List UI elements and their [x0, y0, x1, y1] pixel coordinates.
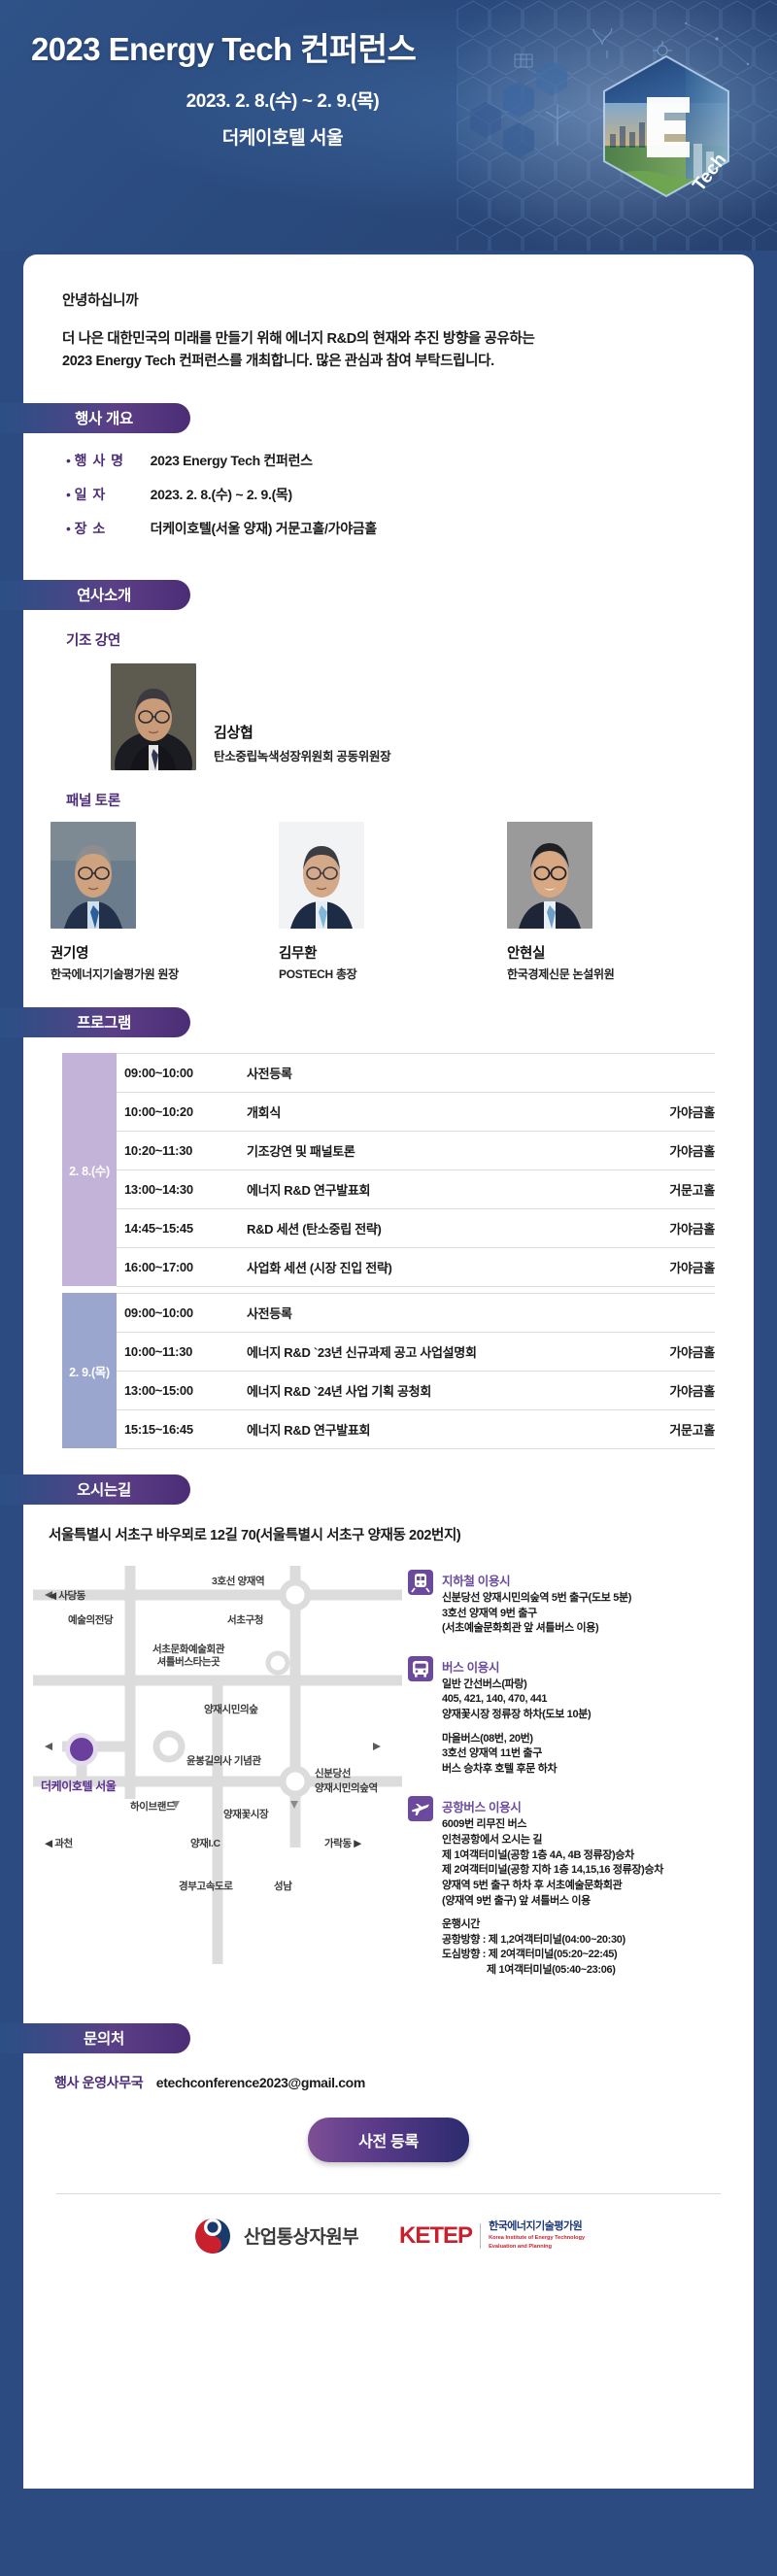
- transit-line: 버스 승차후 호텔 후문 하차: [442, 1762, 591, 1778]
- transit-bus: 버스 이용시 일반 간선버스(파랑) 405, 421, 140, 470, 4…: [408, 1656, 754, 1778]
- panel-subtitle: 패널 토론: [23, 770, 754, 810]
- map-label-yangjae-ic: 양재I.C: [190, 1836, 220, 1850]
- program-hall: [625, 1293, 715, 1332]
- table-row: 2. 9.(목) 09:00~10:00 사전등록: [62, 1293, 715, 1332]
- speaker-title: POSTECH 총장: [279, 966, 507, 982]
- overview-row: • 장 소 더케이호텔(서울 양재) 거문고홀/가야금홀: [66, 519, 754, 538]
- map-label-seocho-office: 서초구청: [227, 1612, 263, 1627]
- speaker-name: 김상협: [214, 722, 390, 742]
- program-title: 사전등록: [231, 1293, 625, 1332]
- intro-line-1: 더 나은 대한민국의 미래를 만들기 위해 에너지 R&D의 현재와 추진 방향…: [62, 328, 715, 351]
- transit-line: 양재역 5번 출구 하차 후 서초예술문화회관: [442, 1879, 663, 1894]
- section-badge-directions: 오시는길: [0, 1474, 190, 1505]
- program-title: 에너지 R&D 연구발표회: [231, 1169, 625, 1208]
- transit-line: 양재꽃시장 정류장 하차(도보 10분): [442, 1708, 591, 1723]
- transit-line: 제 1여객터미널(공항 1층 4A, 4B 정류장)승차: [442, 1848, 663, 1864]
- program-hall: 거문고홀: [625, 1409, 715, 1448]
- program-time: 14:45~15:45: [117, 1208, 231, 1247]
- table-row: 10:00~11:30 에너지 R&D `23년 신규과제 공고 사업설명회 가…: [62, 1332, 715, 1371]
- transit-head: 공항버스 이용시: [442, 1797, 663, 1815]
- pre-register-button[interactable]: 사전 등록: [308, 2118, 469, 2162]
- program-title: 개회식: [231, 1092, 625, 1131]
- program-title: 사전등록: [231, 1053, 625, 1092]
- section-badge-label: 오시는길: [59, 1478, 131, 1500]
- program-time: 09:00~10:00: [117, 1293, 231, 1332]
- section-directions: 오시는길 서울특별시 서초구 바우뫼로 12길 70(서울특별시 서초구 양재동…: [23, 1474, 754, 1998]
- bullet-icon: •: [66, 488, 71, 501]
- map-label-gwacheon: ◀ 과천: [45, 1836, 73, 1850]
- program-title: 에너지 R&D 연구발표회: [231, 1409, 625, 1448]
- program-title: 에너지 R&D `23년 신규과제 공고 사업설명회: [231, 1332, 625, 1371]
- spacer: [442, 1909, 663, 1917]
- section-speakers: 연사소개 기조 강연 김상협 탄소중립녹색성장위원: [23, 580, 754, 982]
- keynote-speaker: 김상협 탄소중립녹색성장위원회 공동위원장: [23, 650, 754, 770]
- contact-email[interactable]: etechconference2023@gmail.com: [156, 2075, 365, 2090]
- poster-header: 2023 Energy Tech 컨퍼런스 2023. 2. 8.(수) ~ 2…: [0, 0, 777, 251]
- avatar: [507, 822, 592, 929]
- transit-subway: 지하철 이용시 신분당선 양재시민의숲역 5번 출구(도보 5분) 3호선 양재…: [408, 1570, 754, 1637]
- section-badge-program: 프로그램: [0, 1007, 190, 1037]
- transit-head: 지하철 이용시: [442, 1571, 631, 1589]
- table-row: 13:00~14:30 에너지 R&D 연구발표회 거문고홀: [62, 1169, 715, 1208]
- speaker-title: 한국에너지기술평가원 원장: [51, 966, 279, 982]
- spacer: [442, 1723, 591, 1732]
- event-dates: 2023. 2. 8.(수) ~ 2. 9.(목): [31, 86, 544, 113]
- map-label-arts-center: 예술의전당: [68, 1612, 113, 1627]
- motie-label: 산업통상자원부: [244, 2222, 358, 2249]
- section-badge-label: 문의처: [66, 2027, 124, 2049]
- speaker-title: 탄소중립녹색성장위원회 공동위원장: [214, 746, 390, 764]
- transit-line: 마을버스(08번, 20번): [442, 1732, 591, 1747]
- table-row: 15:15~16:45 에너지 R&D 연구발표회 거문고홀: [62, 1409, 715, 1448]
- venue-address: 서울특별시 서초구 바우뫼로 12길 70(서울특별시 서초구 양재동 202번…: [23, 1505, 754, 1544]
- overview-row: • 행 사 명 2023 Energy Tech 컨퍼런스: [66, 451, 754, 470]
- map-label-sadang: ◀ 사당동: [49, 1588, 85, 1603]
- map-label-highland: 하이브랜드: [130, 1799, 175, 1813]
- program-title: R&D 세션 (탄소중립 전략): [231, 1208, 625, 1247]
- map-label-hotel: 더케이호텔 서울: [41, 1778, 116, 1794]
- table-day-separator: [62, 1286, 715, 1293]
- overview-label: 장 소: [75, 519, 151, 538]
- table-row: 16:00~17:00 사업화 세션 (시장 진입 전략) 가야금홀: [62, 1247, 715, 1286]
- map-label-shuttle-stop: 서초문화예술회관 셔틀버스타는곳: [152, 1644, 224, 1669]
- overview-list: • 행 사 명 2023 Energy Tech 컨퍼런스 • 일 자 2023…: [23, 433, 754, 555]
- etech-logo: Tech: [592, 51, 740, 214]
- section-badge-label: 행사 개요: [57, 407, 133, 428]
- transit-line: (양재역 9번 출구) 앞 셔틀버스 이용: [442, 1894, 663, 1910]
- program-hall: 거문고홀: [625, 1169, 715, 1208]
- program-time: 10:00~11:30: [117, 1332, 231, 1371]
- avatar: [111, 663, 196, 770]
- table-row: 13:00~15:00 에너지 R&D `24년 사업 기획 공청회 가야금홀: [62, 1371, 715, 1409]
- program-time: 09:00~10:00: [117, 1053, 231, 1092]
- transit-line: 제 2여객터미널(공항 지하 1층 14,15,16 정류장)승차: [442, 1863, 663, 1879]
- venue-map: 3호선 양재역 ◀ 사당동 예술의전당 서초구청 서초문화예술회관 셔틀버스타는…: [23, 1556, 402, 1964]
- operating-hours-line: 도심방향 : 제 2여객터미널(05:20~22:45): [442, 1948, 663, 1963]
- taegeuk-icon: [192, 2216, 233, 2256]
- panel-list: 권기영 한국에너지기술평가원 원장: [23, 810, 754, 982]
- transit-line: (서초예술문화회관 앞 셔틀버스 이용): [442, 1621, 631, 1637]
- program-title: 기조강연 및 패널토론: [231, 1131, 625, 1169]
- ketep-mark: KETEP: [399, 2222, 472, 2250]
- keynote-subtitle: 기조 강연: [23, 610, 754, 650]
- airplane-icon: [408, 1796, 433, 1821]
- program-time: 16:00~17:00: [117, 1247, 231, 1286]
- program-title: 사업화 세션 (시장 진입 전략): [231, 1247, 625, 1286]
- section-program: 프로그램 2. 8.(수) 09:00~10:00 사전등록 10:00~10:…: [23, 1007, 754, 1449]
- avatar: [279, 822, 364, 929]
- ketep-name-kr: 한국에너지기술평가원: [489, 2220, 585, 2233]
- contact-row: 행사 운영사무국 etechconference2023@gmail.com: [23, 2053, 754, 2092]
- operating-hours-head: 운행시간: [442, 1917, 663, 1933]
- overview-row: • 일 자 2023. 2. 8.(수) ~ 2. 9.(목): [66, 485, 754, 504]
- transit-line: 신분당선 양재시민의숲역 5번 출구(도보 5분): [442, 1591, 631, 1607]
- speaker-name: 김무환: [279, 942, 507, 963]
- section-badge-contact: 문의처: [0, 2023, 190, 2053]
- event-venue: 더케이호텔 서울: [31, 123, 544, 150]
- subway-icon: [408, 1570, 433, 1595]
- program-title: 에너지 R&D `24년 사업 기획 공청회: [231, 1371, 625, 1409]
- map-label-line3-yangjae: 3호선 양재역: [212, 1574, 264, 1588]
- intro-block: 안녕하십니까 더 나은 대한민국의 미래를 만들기 위해 에너지 R&D의 현재…: [23, 254, 754, 378]
- map-label-flower-market: 양재꽃시장: [223, 1807, 268, 1821]
- motie-logo: 산업통상자원부: [192, 2216, 358, 2256]
- intro-line-2: 2023 Energy Tech 컨퍼런스를 개최합니다. 많은 관심과 참여 …: [62, 351, 715, 373]
- intro-greeting: 안녕하십니까: [62, 289, 715, 310]
- map-label-yangjae-forest: 양재시민의숲: [204, 1702, 258, 1716]
- map-label-garak: 가락동 ▶: [324, 1836, 361, 1850]
- overview-label: 행 사 명: [75, 451, 151, 470]
- program-time: 13:00~15:00: [117, 1371, 231, 1409]
- program-hall: 가야금홀: [625, 1208, 715, 1247]
- map-label-seongnam: 성남: [274, 1879, 292, 1893]
- list-item: 안현실 한국경제신문 논설위원: [507, 822, 735, 982]
- divider: [480, 2223, 481, 2249]
- operating-hours-line: 공항방향 : 제 1,2여객터미널(04:00~20:30): [442, 1933, 663, 1949]
- table-row: 10:20~11:30 기조강연 및 패널토론 가야금홀: [62, 1131, 715, 1169]
- map-label-yun-memorial: 윤봉길의사 기념관: [186, 1753, 261, 1768]
- contact-label: 행사 운영사무국: [54, 2075, 143, 2090]
- speaker-name: 안현실: [507, 942, 735, 963]
- program-hall: 가야금홀: [625, 1332, 715, 1371]
- program-hall: 가야금홀: [625, 1131, 715, 1169]
- header-text-block: 2023 Energy Tech 컨퍼런스 2023. 2. 8.(수) ~ 2…: [0, 0, 544, 150]
- section-overview: 행사 개요 • 행 사 명 2023 Energy Tech 컨퍼런스 • 일 …: [23, 403, 754, 555]
- transit-line: 3호선 양재역 11번 출구: [442, 1746, 591, 1762]
- avatar: [51, 822, 136, 929]
- transit-airport-bus: 공항버스 이용시 6009번 리무진 버스 인천공항에서 오시는 길 제 1여객…: [408, 1796, 754, 1978]
- section-contact: 문의처 행사 운영사무국 etechconference2023@gmail.c…: [23, 2023, 754, 2162]
- program-table: 2. 8.(수) 09:00~10:00 사전등록 10:00~10:20 개회…: [62, 1053, 715, 1449]
- program-hall: [625, 1053, 715, 1092]
- overview-value: 2023 Energy Tech 컨퍼런스: [151, 451, 313, 470]
- section-badge-overview: 행사 개요: [0, 403, 190, 433]
- list-item: 김무환 POSTECH 총장: [279, 822, 507, 982]
- bus-icon: [408, 1656, 433, 1681]
- page-title: 2023 Energy Tech 컨퍼런스: [31, 23, 544, 70]
- table-row: 10:00~10:20 개회식 가야금홀: [62, 1092, 715, 1131]
- program-time: 10:20~11:30: [117, 1131, 231, 1169]
- transit-line: 3호선 양재역 9번 출구: [442, 1607, 631, 1622]
- ketep-name-en-1: Korea Institute of Energy Technology: [489, 2235, 585, 2242]
- section-badge-speakers: 연사소개: [0, 580, 190, 610]
- section-badge-label: 연사소개: [59, 584, 131, 605]
- program-hall: 가야금홀: [625, 1092, 715, 1131]
- bullet-icon: •: [66, 522, 71, 535]
- program-day-label: 2. 9.(목): [62, 1293, 117, 1448]
- transit-line: 6009번 리무진 버스: [442, 1817, 663, 1833]
- overview-value: 2023. 2. 8.(수) ~ 2. 9.(목): [151, 485, 292, 504]
- list-item: 권기영 한국에너지기술평가원 원장: [51, 822, 279, 982]
- map-label-sinbundang: 신분당선 양재시민의숲역: [315, 1766, 378, 1795]
- operating-hours-line: 제 1여객터미널(05:40~23:06): [442, 1963, 663, 1979]
- transit-line: 인천공항에서 오시는 길: [442, 1833, 663, 1848]
- program-table-wrap: 2. 8.(수) 09:00~10:00 사전등록 10:00~10:20 개회…: [23, 1037, 754, 1449]
- bullet-icon: •: [66, 454, 71, 467]
- section-badge-label: 프로그램: [59, 1011, 131, 1033]
- program-hall: 가야금홀: [625, 1371, 715, 1409]
- program-day-label: 2. 8.(수): [62, 1053, 117, 1286]
- table-row: 2. 8.(수) 09:00~10:00 사전등록: [62, 1053, 715, 1092]
- table-row: 14:45~15:45 R&D 세션 (탄소중립 전략) 가야금홀: [62, 1208, 715, 1247]
- ketep-logo: KETEP 한국에너지기술평가원 Korea Institute of Ener…: [399, 2220, 585, 2251]
- program-hall: 가야금홀: [625, 1247, 715, 1286]
- program-time: 15:15~16:45: [117, 1409, 231, 1448]
- transit-head: 버스 이용시: [442, 1657, 591, 1676]
- program-time: 13:00~14:30: [117, 1169, 231, 1208]
- transit-line: 405, 421, 140, 470, 441: [442, 1692, 591, 1708]
- transit-info: 지하철 이용시 신분당선 양재시민의숲역 5번 출구(도보 5분) 3호선 양재…: [402, 1556, 754, 1998]
- ketep-name-en-2: Evaluation and Planning: [489, 2244, 585, 2251]
- poster-body-card: 안녕하십니까 더 나은 대한민국의 미래를 만들기 위해 에너지 R&D의 현재…: [23, 254, 754, 2489]
- map-label-gyeongbu-expressway: 경부고속도로: [179, 1879, 233, 1893]
- footer-logos: 산업통상자원부 KETEP 한국에너지기술평가원 Korea Institute…: [23, 2194, 754, 2266]
- speaker-name: 권기영: [51, 942, 279, 963]
- overview-label: 일 자: [75, 485, 151, 504]
- speaker-title: 한국경제신문 논설위원: [507, 966, 735, 982]
- program-time: 10:00~10:20: [117, 1092, 231, 1131]
- overview-value: 더케이호텔(서울 양재) 거문고홀/가야금홀: [151, 519, 377, 538]
- transit-line: 일반 간선버스(파랑): [442, 1678, 591, 1693]
